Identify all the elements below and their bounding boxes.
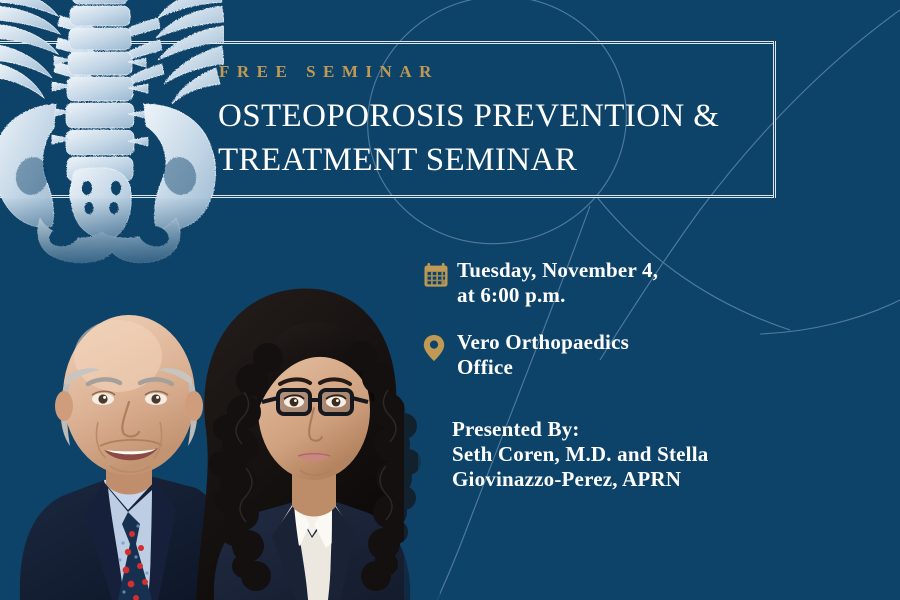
location-line-1: Vero Orthopaedics [457, 330, 629, 355]
detail-row-location: Vero Orthopaedics Office [423, 330, 843, 380]
presenters-block: Presented By: Seth Coren, M.D. and Stell… [452, 417, 852, 492]
calendar-icon [423, 258, 457, 288]
presenter-name-line-1: Seth Coren, M.D. and Stella [452, 442, 852, 467]
headline-line-1: OSTEOPOROSIS PREVENTION & [218, 94, 778, 138]
frame-line-top [0, 41, 776, 44]
eyebrow-label: FREE SEMINAR [219, 62, 439, 82]
presented-by-label: Presented By: [452, 417, 852, 442]
seminar-flyer: FREE SEMINAR OSTEOPOROSIS PREVENTION & T… [0, 0, 900, 600]
date-line-2: at 6:00 p.m. [457, 283, 658, 308]
event-details: Tuesday, November 4, at 6:00 p.m. Vero O… [423, 258, 843, 402]
headline-line-2: TREATMENT SEMINAR [218, 138, 778, 182]
detail-text-date: Tuesday, November 4, at 6:00 p.m. [457, 258, 658, 308]
date-line-1: Tuesday, November 4, [457, 258, 658, 283]
presenter-photo-male [20, 315, 232, 600]
presenter-photos [0, 260, 440, 600]
presenter-photo-female [196, 289, 421, 600]
presenter-name-line-2: Giovinazzo-Perez, APRN [452, 467, 852, 492]
page-title: OSTEOPOROSIS PREVENTION & TREATMENT SEMI… [218, 94, 778, 182]
detail-row-date: Tuesday, November 4, at 6:00 p.m. [423, 258, 843, 308]
detail-text-location: Vero Orthopaedics Office [457, 330, 629, 380]
location-pin-icon [423, 330, 457, 362]
location-line-2: Office [457, 355, 629, 380]
frame-line-bottom [0, 195, 776, 198]
